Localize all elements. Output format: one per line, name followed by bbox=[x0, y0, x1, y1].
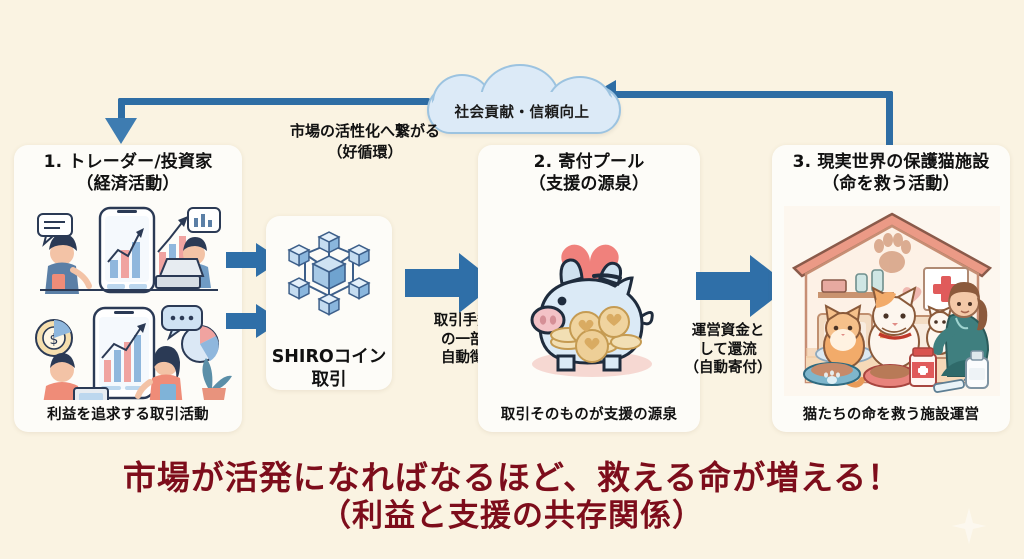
card-donation-pool-title-line1: 2. 寄付プール bbox=[478, 152, 700, 173]
card-cat-shelter-caption: 猫たちの命を救う施設運営 bbox=[772, 403, 1010, 424]
card-cat-shelter-title-line1: 3. 現実世界の保護猫施設 bbox=[772, 152, 1010, 173]
blockchain-cube-network-icon bbox=[275, 222, 383, 330]
loop-top-line-right bbox=[610, 91, 893, 98]
shiro-label-line1: SHIROコイン bbox=[266, 346, 392, 369]
headline-line2: （利益と支援の共存関係） bbox=[0, 498, 1024, 536]
headline: 市場が活発になればなるほど、救える命が増える！ （利益と支援の共存関係） bbox=[0, 458, 1024, 536]
funding-return-line1: 運営資金と bbox=[692, 323, 765, 339]
shiro-label-line2: 取引 bbox=[266, 369, 392, 392]
loop-arrowhead-down-icon bbox=[105, 118, 137, 144]
card-traders-title-line2: （経済活動） bbox=[14, 174, 242, 195]
funding-return-label: 運営資金と して還流 （自動寄付） bbox=[672, 322, 784, 378]
loop-label-line2: （好循環） bbox=[265, 143, 465, 163]
funding-return-line2: して還流 bbox=[699, 342, 757, 358]
card-donation-pool-title-line2: （支援の源泉） bbox=[478, 174, 700, 195]
card-donation-pool-caption: 取引そのものが支援の源泉 bbox=[478, 403, 700, 424]
card-traders-title-line1: 1. トレーダー/投資家 bbox=[14, 152, 242, 173]
card-traders-caption: 利益を追求する取引活動 bbox=[14, 403, 242, 424]
loop-label-line1: 市場の活性化へ繋がる bbox=[265, 122, 465, 142]
cloud-label: 社会貢献・信頼向上 bbox=[437, 101, 607, 122]
loop-right-riser bbox=[886, 91, 893, 153]
cat-shelter-illustration bbox=[784, 206, 1000, 396]
sparkle-icon bbox=[952, 508, 986, 544]
traders-illustration: $ bbox=[22, 198, 234, 400]
loop-top-line-left bbox=[118, 98, 430, 105]
headline-line1: 市場が活発になればなるほど、救える命が増える！ bbox=[0, 458, 1024, 498]
infographic-canvas: 社会貢献・信頼向上 市場の活性化へ繋がる （好循環） 1. トレーダー/投資家 … bbox=[0, 0, 1024, 559]
piggy-bank-illustration bbox=[500, 200, 680, 396]
card-cat-shelter-title-line2: （命を救う活動） bbox=[772, 174, 1010, 195]
funding-return-line3: （自動寄付） bbox=[685, 360, 772, 376]
